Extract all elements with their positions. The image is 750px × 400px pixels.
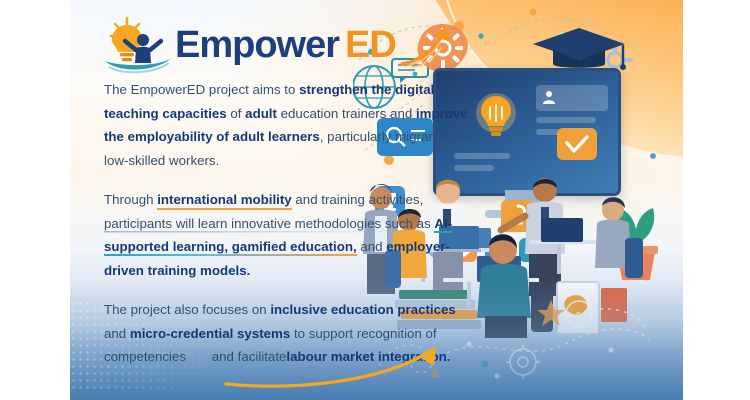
artwork-card: EmpowerED The EmpowerED project aims to … [70,0,683,400]
p1-bold-1: strengthen the [299,82,391,97]
screen-card-2 [536,117,596,123]
logo[interactable]: EmpowerED [103,14,456,76]
logo-word-ed: ED [345,24,396,66]
user-network-icon [540,89,558,107]
logo-wordmark: EmpowerED [175,26,396,64]
logo-word-empower: Empower [175,24,339,66]
p2-text-4: as [417,216,435,231]
p3-bold-micro-credential: micro-credential systems [130,326,290,341]
poster-canvas: EmpowerED The EmpowerED project aims to … [0,0,750,400]
paragraph-2: Through international mobility and train… [104,188,476,282]
growth-arrow-icon [400,22,456,68]
checkmark-icon [557,128,597,160]
p2-text-1: Through [104,192,157,207]
p2-bold-international-mobility: international mobility [157,192,291,210]
p2-text-5: and [360,239,386,254]
p1-text-4: trainers and [342,106,416,121]
p3-bold-inclusive: inclusive education practices [270,302,456,317]
paragraph-1: The EmpowerED project aims to strengthen… [104,78,476,172]
p1-bold-3: adult [245,106,277,121]
p2-text-2: and training activities, [292,192,424,207]
body-copy: The EmpowerED project aims to strengthen… [104,78,476,369]
p1-text-1: The EmpowerED project aims to [104,82,299,97]
p3-text-2: and [104,326,130,343]
graduation-cap-icon [531,26,627,72]
desk-right [529,197,643,278]
lightbulb-person-icon [103,15,177,75]
p1-text-2: of [227,106,245,121]
lightbulb-icon [476,91,516,143]
p1-text-3: education [277,106,338,121]
p1-bold-5: learners [268,129,320,144]
p2-text-3: participants will learn innovative metho… [104,216,413,233]
emphasis-arrow-icon [220,344,460,390]
p3-text-1: The project also focuses on [104,302,270,317]
